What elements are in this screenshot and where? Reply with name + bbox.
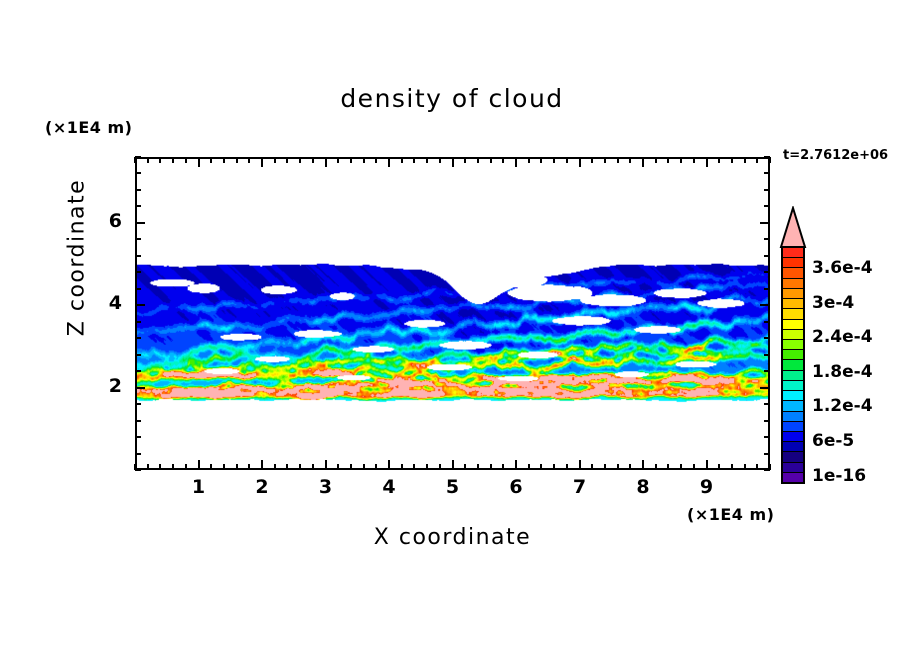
tick-x-bottom xyxy=(566,464,568,470)
tick-y-right xyxy=(764,288,770,290)
tick-x-top xyxy=(604,157,606,163)
tick-x-top xyxy=(375,157,377,163)
tick-x-top xyxy=(528,157,530,163)
tick-x-bottom xyxy=(147,464,149,470)
tick-x-top xyxy=(350,157,352,163)
tick-x-top xyxy=(286,157,288,163)
colorbar-band xyxy=(783,279,803,289)
colorbar-band xyxy=(783,452,803,462)
y-axis-units-label: (×1E4 m) xyxy=(45,118,132,137)
x-axis-units-label: (×1E4 m) xyxy=(687,505,774,524)
tick-x-top xyxy=(223,157,225,163)
x-tick-label: 6 xyxy=(501,476,531,498)
tick-y-left xyxy=(135,271,141,273)
tick-x-top xyxy=(198,157,200,167)
x-tick-label: 2 xyxy=(247,476,277,498)
tick-x-bottom xyxy=(299,464,301,470)
tick-x-top xyxy=(515,157,517,167)
colorbar-band xyxy=(783,391,803,401)
tick-x-top xyxy=(185,157,187,163)
tick-x-bottom xyxy=(185,464,187,470)
tick-x-bottom xyxy=(744,464,746,470)
tick-x-bottom xyxy=(286,464,288,470)
x-tick-label: 8 xyxy=(628,476,658,498)
tick-x-bottom xyxy=(198,460,200,470)
colorbar-band xyxy=(783,381,803,391)
tick-x-top xyxy=(439,157,441,163)
colorbar-band xyxy=(783,309,803,319)
time-annotation: t=2.7612e+06 xyxy=(783,148,888,163)
y-tick-label: 2 xyxy=(92,375,122,397)
tick-x-top xyxy=(363,157,365,163)
colorbar-label: 3e-4 xyxy=(812,293,854,313)
tick-x-bottom xyxy=(718,464,720,470)
colorbar-band xyxy=(783,412,803,422)
y-tick-label: 4 xyxy=(92,292,122,314)
page-title: density of cloud xyxy=(0,84,904,113)
x-axis-title: X coordinate xyxy=(135,525,770,550)
colorbar-band xyxy=(783,371,803,381)
tick-x-top xyxy=(579,157,581,167)
x-tick-label: 3 xyxy=(311,476,341,498)
tick-x-top xyxy=(477,157,479,163)
colorbar-label: 3.6e-4 xyxy=(812,258,873,278)
tick-x-top xyxy=(325,157,327,167)
tick-y-left xyxy=(135,337,141,339)
colorbar-band xyxy=(783,268,803,278)
colorbar-band xyxy=(783,350,803,360)
tick-y-right xyxy=(764,321,770,323)
tick-x-bottom xyxy=(706,460,708,470)
tick-x-top xyxy=(426,157,428,163)
tick-y-right xyxy=(764,337,770,339)
tick-y-right xyxy=(764,403,770,405)
colorbar-band xyxy=(783,401,803,411)
tick-x-top xyxy=(718,157,720,163)
tick-y-left xyxy=(135,156,141,158)
tick-y-right xyxy=(764,189,770,191)
tick-x-bottom xyxy=(159,464,161,470)
tick-x-top xyxy=(388,157,390,167)
tick-y-right xyxy=(764,453,770,455)
tick-x-top xyxy=(299,157,301,163)
tick-x-top xyxy=(655,157,657,163)
tick-x-top xyxy=(566,157,568,163)
colorbar-band xyxy=(783,248,803,258)
density-field-heatmap xyxy=(137,159,768,468)
tick-x-bottom xyxy=(502,464,504,470)
x-tick-label: 9 xyxy=(692,476,722,498)
tick-x-bottom xyxy=(350,464,352,470)
x-tick-label: 1 xyxy=(184,476,214,498)
tick-x-top xyxy=(464,157,466,163)
colorbar-band xyxy=(783,473,803,482)
colorbar-band xyxy=(783,463,803,473)
tick-x-bottom xyxy=(515,460,517,470)
colorbar-band xyxy=(783,330,803,340)
tick-y-right xyxy=(764,255,770,257)
tick-x-top xyxy=(693,157,695,163)
tick-y-right xyxy=(760,387,770,389)
tick-x-bottom xyxy=(426,464,428,470)
colorbar[interactable] xyxy=(778,206,808,482)
y-tick-label: 6 xyxy=(92,210,122,232)
tick-y-right xyxy=(764,436,770,438)
tick-y-right xyxy=(760,304,770,306)
tick-x-top xyxy=(490,157,492,163)
tick-x-top xyxy=(744,157,746,163)
tick-x-bottom xyxy=(388,460,390,470)
tick-x-top xyxy=(756,157,758,163)
tick-y-left xyxy=(135,189,141,191)
tick-x-top xyxy=(667,157,669,163)
tick-y-left xyxy=(135,469,141,471)
tick-y-right xyxy=(760,222,770,224)
tick-y-left xyxy=(135,288,141,290)
tick-y-left xyxy=(135,255,141,257)
tick-y-right xyxy=(764,238,770,240)
tick-x-top xyxy=(337,157,339,163)
plot-area[interactable] xyxy=(135,157,770,470)
colorbar-band xyxy=(783,258,803,268)
tick-y-left xyxy=(135,420,141,422)
tick-x-bottom xyxy=(464,464,466,470)
tick-y-left xyxy=(135,403,141,405)
tick-x-bottom xyxy=(604,464,606,470)
tick-x-bottom xyxy=(236,464,238,470)
tick-x-bottom xyxy=(210,464,212,470)
colorbar-label: 1.8e-4 xyxy=(812,362,873,382)
tick-y-right xyxy=(764,354,770,356)
tick-y-left xyxy=(135,222,145,224)
colorbar-label: 6e-5 xyxy=(812,431,854,451)
tick-x-top xyxy=(236,157,238,163)
tick-x-top xyxy=(147,157,149,163)
tick-y-right xyxy=(764,205,770,207)
tick-x-bottom xyxy=(617,464,619,470)
colorbar-label: 2.4e-4 xyxy=(812,327,873,347)
tick-x-bottom xyxy=(363,464,365,470)
tick-x-bottom xyxy=(261,460,263,470)
tick-x-bottom xyxy=(629,464,631,470)
tick-y-right xyxy=(764,420,770,422)
tick-y-left xyxy=(135,354,141,356)
tick-x-bottom xyxy=(731,464,733,470)
tick-x-bottom xyxy=(693,464,695,470)
tick-y-right xyxy=(764,156,770,158)
x-tick-label: 4 xyxy=(374,476,404,498)
colorbar-band xyxy=(783,289,803,299)
x-tick-label: 5 xyxy=(438,476,468,498)
x-tick-label: 7 xyxy=(565,476,595,498)
tick-x-top xyxy=(591,157,593,163)
tick-x-bottom xyxy=(312,464,314,470)
colorbar-band xyxy=(783,442,803,452)
tick-y-left xyxy=(135,205,141,207)
tick-x-top xyxy=(617,157,619,163)
tick-x-bottom xyxy=(172,464,174,470)
tick-x-top xyxy=(274,157,276,163)
tick-y-left xyxy=(135,436,141,438)
colorbar-band xyxy=(783,299,803,309)
tick-y-left xyxy=(135,387,145,389)
tick-x-top xyxy=(172,157,174,163)
tick-y-right xyxy=(764,469,770,471)
colorbar-band xyxy=(783,320,803,330)
colorbar-band xyxy=(783,422,803,432)
tick-x-bottom xyxy=(579,460,581,470)
tick-x-bottom xyxy=(223,464,225,470)
colorbar-band xyxy=(783,360,803,370)
tick-x-top xyxy=(642,157,644,167)
tick-x-bottom xyxy=(655,464,657,470)
tick-x-top xyxy=(540,157,542,163)
tick-x-bottom xyxy=(642,460,644,470)
colorbar-band xyxy=(783,340,803,350)
tick-x-bottom xyxy=(680,464,682,470)
tick-x-bottom xyxy=(248,464,250,470)
tick-x-bottom xyxy=(401,464,403,470)
tick-x-bottom xyxy=(452,460,454,470)
tick-x-bottom xyxy=(439,464,441,470)
tick-x-top xyxy=(452,157,454,167)
tick-x-bottom xyxy=(477,464,479,470)
colorbar-label: 1.2e-4 xyxy=(812,396,873,416)
y-axis-title: Z coordinate xyxy=(65,163,90,353)
tick-x-top xyxy=(680,157,682,163)
tick-x-bottom xyxy=(756,464,758,470)
tick-x-top xyxy=(413,157,415,163)
colorbar-bands xyxy=(781,246,805,484)
tick-x-top xyxy=(312,157,314,163)
colorbar-label: 1e-16 xyxy=(812,466,866,486)
tick-x-top xyxy=(502,157,504,163)
tick-y-right xyxy=(764,370,770,372)
tick-x-bottom xyxy=(553,464,555,470)
colorbar-band xyxy=(783,432,803,442)
tick-x-bottom xyxy=(490,464,492,470)
tick-x-top xyxy=(248,157,250,163)
tick-x-top xyxy=(210,157,212,163)
tick-x-bottom xyxy=(528,464,530,470)
colorbar-overflow-arrow-icon xyxy=(778,206,808,248)
tick-x-bottom xyxy=(667,464,669,470)
tick-y-left xyxy=(135,453,141,455)
tick-x-bottom xyxy=(274,464,276,470)
tick-x-top xyxy=(553,157,555,163)
tick-y-left xyxy=(135,370,141,372)
tick-x-bottom xyxy=(413,464,415,470)
tick-x-bottom xyxy=(325,460,327,470)
tick-x-top xyxy=(706,157,708,167)
tick-y-left xyxy=(135,304,145,306)
tick-y-right xyxy=(764,172,770,174)
tick-x-top xyxy=(261,157,263,167)
tick-x-top xyxy=(401,157,403,163)
figure-canvas: density of cloud (×1E4 m) t=2.7612e+06 1… xyxy=(0,0,904,654)
tick-x-bottom xyxy=(540,464,542,470)
tick-x-top xyxy=(159,157,161,163)
tick-y-left xyxy=(135,238,141,240)
tick-x-bottom xyxy=(337,464,339,470)
tick-y-right xyxy=(764,271,770,273)
tick-x-bottom xyxy=(591,464,593,470)
tick-x-top xyxy=(629,157,631,163)
tick-y-left xyxy=(135,172,141,174)
tick-x-top xyxy=(731,157,733,163)
tick-x-bottom xyxy=(375,464,377,470)
tick-y-left xyxy=(135,321,141,323)
